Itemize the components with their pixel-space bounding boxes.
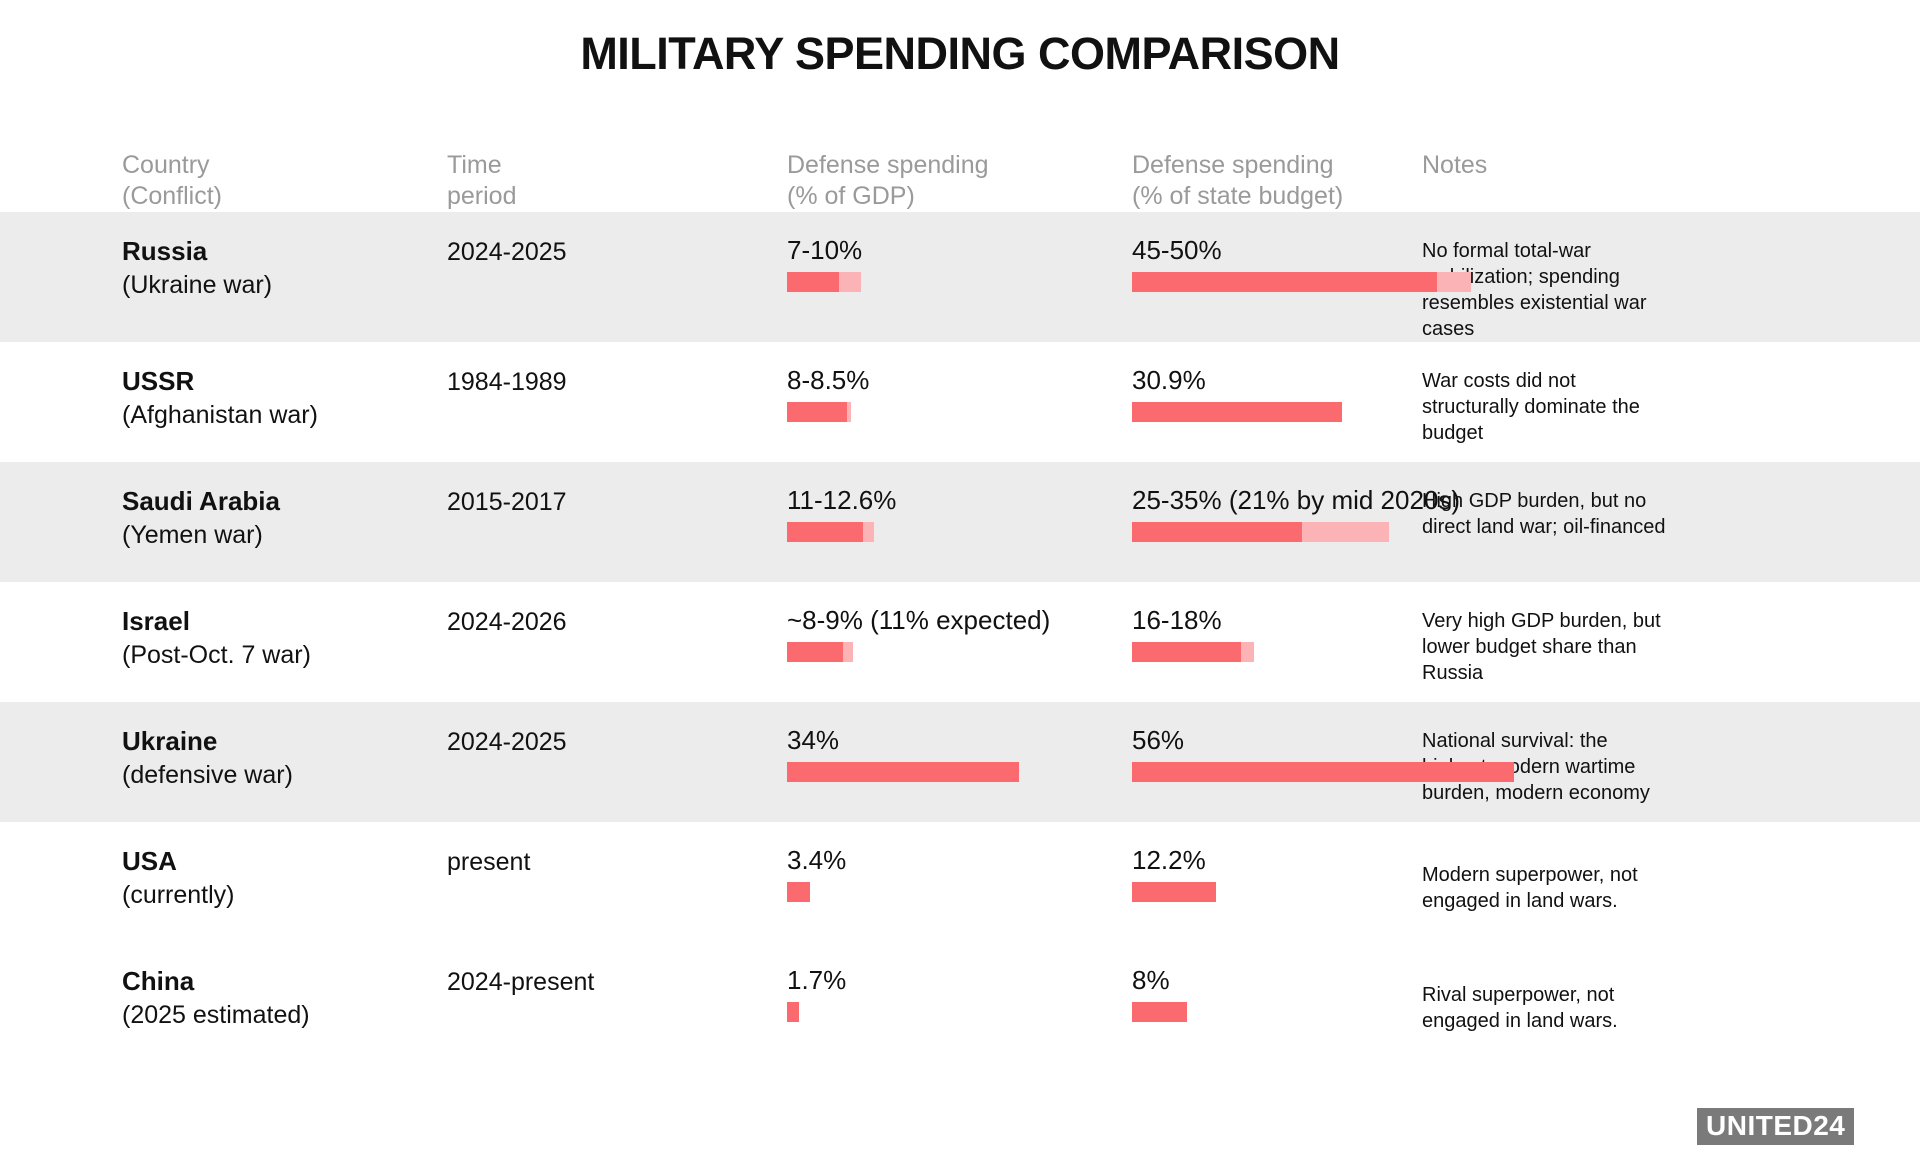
cell-gdp: 1.7% (787, 942, 1132, 1022)
bar-segment-range (847, 402, 851, 422)
cell-gdp: ~8-9% (11% expected) (787, 582, 1132, 662)
cell-gdp: 7-10% (787, 212, 1132, 292)
budget-value-label: 30.9% (1132, 364, 1422, 396)
country-conflict: (currently) (122, 878, 447, 912)
cell-budget: 30.9% (1132, 342, 1422, 422)
table-body: Russia(Ukraine war)2024-20257-10%45-50%N… (0, 212, 1920, 1062)
cell-gdp: 34% (787, 702, 1132, 782)
cell-notes: War costs did not structurally dominate … (1422, 342, 1694, 446)
budget-value-label: 12.2% (1132, 844, 1422, 876)
bar-segment-primary (787, 642, 843, 662)
bar-track (1132, 642, 1422, 662)
bar-segment-range (843, 642, 853, 662)
column-header-country: Country (Conflict) (122, 150, 447, 212)
country-conflict: (defensive war) (122, 758, 447, 792)
gdp-value-label: 11-12.6% (787, 484, 1132, 516)
bar-track (787, 642, 1132, 662)
column-header-period: Time period (447, 150, 787, 212)
bar-segment-primary (787, 522, 863, 542)
cell-gdp: 8-8.5% (787, 342, 1132, 422)
bar-track (787, 762, 1132, 782)
cell-country: Russia(Ukraine war) (122, 212, 447, 302)
cell-country: USSR(Afghanistan war) (122, 342, 447, 432)
cell-notes: Modern superpower, not engaged in land w… (1422, 822, 1694, 914)
infographic-root: MILITARY SPENDING COMPARISON Country (Co… (0, 0, 1920, 1167)
table-row: USA(currently)present3.4%12.2%Modern sup… (0, 822, 1920, 942)
bar-track (1132, 272, 1422, 292)
bar-segment-primary (787, 882, 810, 902)
cell-country: Ukraine(defensive war) (122, 702, 447, 792)
cell-period: present (447, 822, 787, 879)
cell-notes: National survival: the highest modern wa… (1422, 702, 1694, 806)
country-name: Saudi Arabia (122, 484, 447, 518)
bar-segment-primary (1132, 272, 1437, 292)
bar-segment-range (1302, 522, 1389, 542)
table-row: Ukraine(defensive war)2024-202534%56%Nat… (0, 702, 1920, 822)
bar-segment-primary (1132, 762, 1514, 782)
bar-segment-primary (787, 272, 839, 292)
cell-budget: 8% (1132, 942, 1422, 1022)
cell-period: 2024-present (447, 942, 787, 999)
gdp-value-label: 8-8.5% (787, 364, 1132, 396)
country-conflict: (Ukraine war) (122, 268, 447, 302)
bar-track (787, 272, 1132, 292)
country-conflict: (2025 estimated) (122, 998, 447, 1032)
cell-period: 2015-2017 (447, 462, 787, 519)
bar-track (787, 1002, 1132, 1022)
cell-budget: 45-50% (1132, 212, 1422, 292)
bar-segment-range (863, 522, 874, 542)
budget-value-label: 25-35% (21% by mid 2020s) (1132, 484, 1422, 516)
column-header-budget: Defense spending (% of state budget) (1132, 150, 1422, 212)
comparison-table: Country (Conflict) Time period Defense s… (0, 140, 1920, 1062)
country-name: Israel (122, 604, 447, 638)
budget-value-label: 56% (1132, 724, 1422, 756)
cell-notes: High GDP burden, but no direct land war;… (1422, 462, 1694, 540)
country-conflict: (Yemen war) (122, 518, 447, 552)
bar-track (1132, 402, 1422, 422)
cell-budget: 56% (1132, 702, 1422, 782)
cell-gdp: 11-12.6% (787, 462, 1132, 542)
gdp-value-label: 34% (787, 724, 1132, 756)
cell-budget: 25-35% (21% by mid 2020s) (1132, 462, 1422, 542)
table-row: Saudi Arabia(Yemen war)2015-201711-12.6%… (0, 462, 1920, 582)
bar-track (1132, 882, 1422, 902)
table-row: USSR(Afghanistan war)1984-19898-8.5%30.9… (0, 342, 1920, 462)
country-conflict: (Afghanistan war) (122, 398, 447, 432)
united24-logo: UNITED24 (1697, 1108, 1854, 1145)
cell-country: China(2025 estimated) (122, 942, 447, 1032)
table-row: Israel(Post-Oct. 7 war)2024-2026~8-9% (1… (0, 582, 1920, 702)
cell-budget: 12.2% (1132, 822, 1422, 902)
bar-segment-primary (1132, 642, 1241, 662)
cell-country: USA(currently) (122, 822, 447, 912)
country-name: Ukraine (122, 724, 447, 758)
bar-segment-range (1241, 642, 1254, 662)
country-name: USSR (122, 364, 447, 398)
country-name: China (122, 964, 447, 998)
bar-segment-range (1437, 272, 1471, 292)
country-name: Russia (122, 234, 447, 268)
page-title: MILITARY SPENDING COMPARISON (0, 28, 1920, 80)
column-header-notes: Notes (1422, 150, 1920, 181)
cell-period: 2024-2025 (447, 212, 787, 269)
cell-country: Israel(Post-Oct. 7 war) (122, 582, 447, 672)
bar-segment-primary (787, 402, 847, 422)
budget-value-label: 45-50% (1132, 234, 1422, 266)
bar-segment-primary (1132, 522, 1302, 542)
column-header-gdp: Defense spending (% of GDP) (787, 150, 1132, 212)
gdp-value-label: 1.7% (787, 964, 1132, 996)
cell-gdp: 3.4% (787, 822, 1132, 902)
country-name: USA (122, 844, 447, 878)
budget-value-label: 8% (1132, 964, 1422, 996)
bar-track (787, 882, 1132, 902)
gdp-value-label: 7-10% (787, 234, 1132, 266)
cell-notes: Very high GDP burden, but lower budget s… (1422, 582, 1694, 686)
cell-country: Saudi Arabia(Yemen war) (122, 462, 447, 552)
cell-period: 1984-1989 (447, 342, 787, 399)
bar-segment-primary (1132, 882, 1216, 902)
gdp-value-label: ~8-9% (11% expected) (787, 604, 1132, 636)
cell-notes: Rival superpower, not engaged in land wa… (1422, 942, 1694, 1034)
bar-segment-primary (787, 1002, 799, 1022)
cell-period: 2024-2025 (447, 702, 787, 759)
country-conflict: (Post-Oct. 7 war) (122, 638, 447, 672)
bar-track (1132, 522, 1422, 542)
table-header-row: Country (Conflict) Time period Defense s… (0, 140, 1920, 212)
cell-period: 2024-2026 (447, 582, 787, 639)
table-row: Russia(Ukraine war)2024-20257-10%45-50%N… (0, 212, 1920, 342)
bar-segment-primary (787, 762, 1019, 782)
gdp-value-label: 3.4% (787, 844, 1132, 876)
bar-track (1132, 762, 1422, 782)
table-row: China(2025 estimated)2024-present1.7%8%R… (0, 942, 1920, 1062)
bar-track (787, 522, 1132, 542)
bar-segment-range (839, 272, 861, 292)
cell-budget: 16-18% (1132, 582, 1422, 662)
bar-segment-primary (1132, 402, 1342, 422)
bar-track (1132, 1002, 1422, 1022)
bar-segment-primary (1132, 1002, 1187, 1022)
budget-value-label: 16-18% (1132, 604, 1422, 636)
bar-track (787, 402, 1132, 422)
